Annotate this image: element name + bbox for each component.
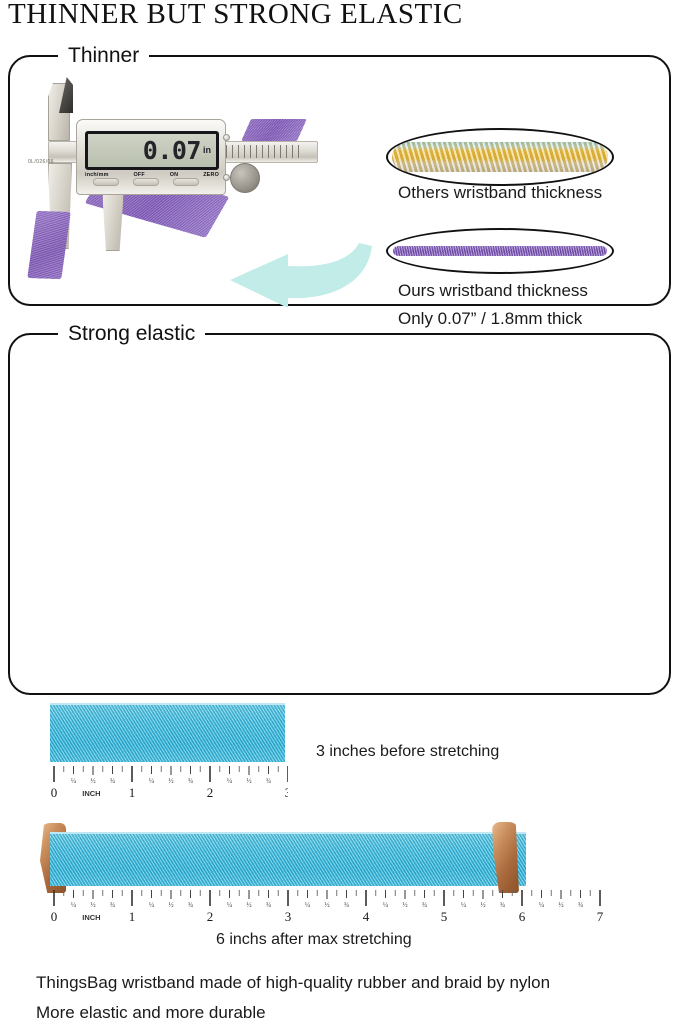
svg-text:¼: ¼	[227, 901, 232, 909]
caliper-lower-moving-jaw	[102, 189, 124, 251]
svg-text:1: 1	[129, 909, 136, 924]
svg-text:½: ½	[402, 901, 407, 909]
ruler-stretched: ¼½¾0¼½¾1¼½¾2¼½¾3¼½¾4¼½¾5¼½¾67INCH	[50, 888, 608, 926]
caliper-bump-2	[133, 178, 159, 186]
ours-band-cross-section	[393, 246, 607, 256]
svg-text:¾: ¾	[188, 777, 193, 785]
svg-text:¼: ¼	[461, 901, 466, 909]
svg-text:¾: ¾	[188, 901, 193, 909]
svg-text:3: 3	[285, 785, 288, 800]
svg-text:¼: ¼	[71, 777, 76, 785]
svg-text:½: ½	[246, 777, 251, 785]
svg-text:¼: ¼	[383, 901, 388, 909]
description-line-1: ThingsBag wristband made of high-quality…	[36, 973, 550, 993]
panel-thinner-label: Thinner	[58, 43, 149, 69]
svg-text:¼: ¼	[71, 901, 76, 909]
svg-text:1: 1	[129, 785, 136, 800]
svg-text:¾: ¾	[266, 901, 271, 909]
svg-text:½: ½	[246, 901, 251, 909]
band-unstretched	[50, 703, 285, 762]
svg-text:¼: ¼	[539, 901, 544, 909]
description-line-2: More elastic and more durable	[36, 1003, 266, 1023]
svg-text:3: 3	[285, 909, 292, 924]
curved-arrow-left-icon	[196, 240, 376, 310]
ours-thickness-measurement: Only 0.07” / 1.8mm thick	[398, 309, 582, 329]
svg-text:½: ½	[168, 901, 173, 909]
svg-text:½: ½	[558, 901, 563, 909]
svg-text:¼: ¼	[149, 901, 154, 909]
svg-text:2: 2	[207, 785, 214, 800]
band-stretched	[50, 832, 526, 886]
caliper-bump-1	[93, 178, 119, 186]
panel-thinner: Thinner 0.07 in inch/mm OFF ON ZERO	[8, 55, 671, 306]
caption-after-stretching: 6 inchs after max stretching	[216, 931, 412, 949]
ruler-unstretched: ¼½¾0¼½¾1¼½¾23INCH	[50, 764, 288, 802]
caliper-button-zero[interactable]: ZERO	[203, 172, 219, 178]
svg-text:¾: ¾	[110, 901, 115, 909]
others-band-cross-section	[392, 142, 608, 172]
svg-text:5: 5	[441, 909, 448, 924]
ours-thickness-oval	[386, 228, 614, 274]
caliper-reading-unit: in	[203, 145, 211, 157]
svg-text:7: 7	[597, 909, 604, 924]
purple-strap-tail	[27, 211, 71, 280]
svg-text:0: 0	[51, 909, 58, 924]
svg-text:½: ½	[90, 901, 95, 909]
caliper-model-label: 0L/026/06	[28, 159, 54, 165]
svg-text:¾: ¾	[266, 777, 271, 785]
svg-text:4: 4	[363, 909, 370, 924]
svg-text:½: ½	[324, 901, 329, 909]
svg-text:½: ½	[90, 777, 95, 785]
svg-text:0: 0	[51, 785, 58, 800]
svg-text:½: ½	[168, 777, 173, 785]
svg-text:INCH: INCH	[82, 913, 100, 922]
panel-strong-elastic: Strong elastic ¼½¾0¼½¾1¼½¾23INCH 3 inche…	[8, 333, 671, 695]
caliper-screw-bottom	[223, 174, 230, 181]
ours-thickness-caption: Ours wristband thickness	[398, 281, 588, 301]
others-thickness-oval	[386, 128, 614, 186]
caliper-thumbwheel	[230, 163, 260, 193]
svg-text:¾: ¾	[500, 901, 505, 909]
caliper-screw-top	[223, 134, 230, 141]
svg-text:¼: ¼	[305, 901, 310, 909]
svg-text:½: ½	[480, 901, 485, 909]
svg-text:¼: ¼	[227, 777, 232, 785]
svg-text:¼: ¼	[149, 777, 154, 785]
caliper-lcd-display: 0.07 in	[85, 131, 219, 170]
svg-text:INCH: INCH	[82, 789, 100, 798]
svg-text:6: 6	[519, 909, 526, 924]
svg-text:2: 2	[207, 909, 214, 924]
others-thickness-caption: Others wristband thickness	[398, 183, 602, 203]
caption-before-stretching: 3 inches before stretching	[316, 743, 499, 761]
svg-text:¾: ¾	[110, 777, 115, 785]
page-title: THINNER BUT STRONG ELASTIC	[8, 0, 463, 31]
svg-text:¾: ¾	[578, 901, 583, 909]
caliper-reading-value: 0.07	[143, 138, 201, 163]
caliper-body: 0.07 in inch/mm OFF ON ZERO	[76, 119, 226, 195]
caliper-bump-3	[173, 178, 199, 186]
svg-text:¾: ¾	[422, 901, 427, 909]
panel-elastic-label: Strong elastic	[58, 321, 205, 347]
svg-text:¾: ¾	[344, 901, 349, 909]
purple-strap-segment	[241, 119, 307, 141]
